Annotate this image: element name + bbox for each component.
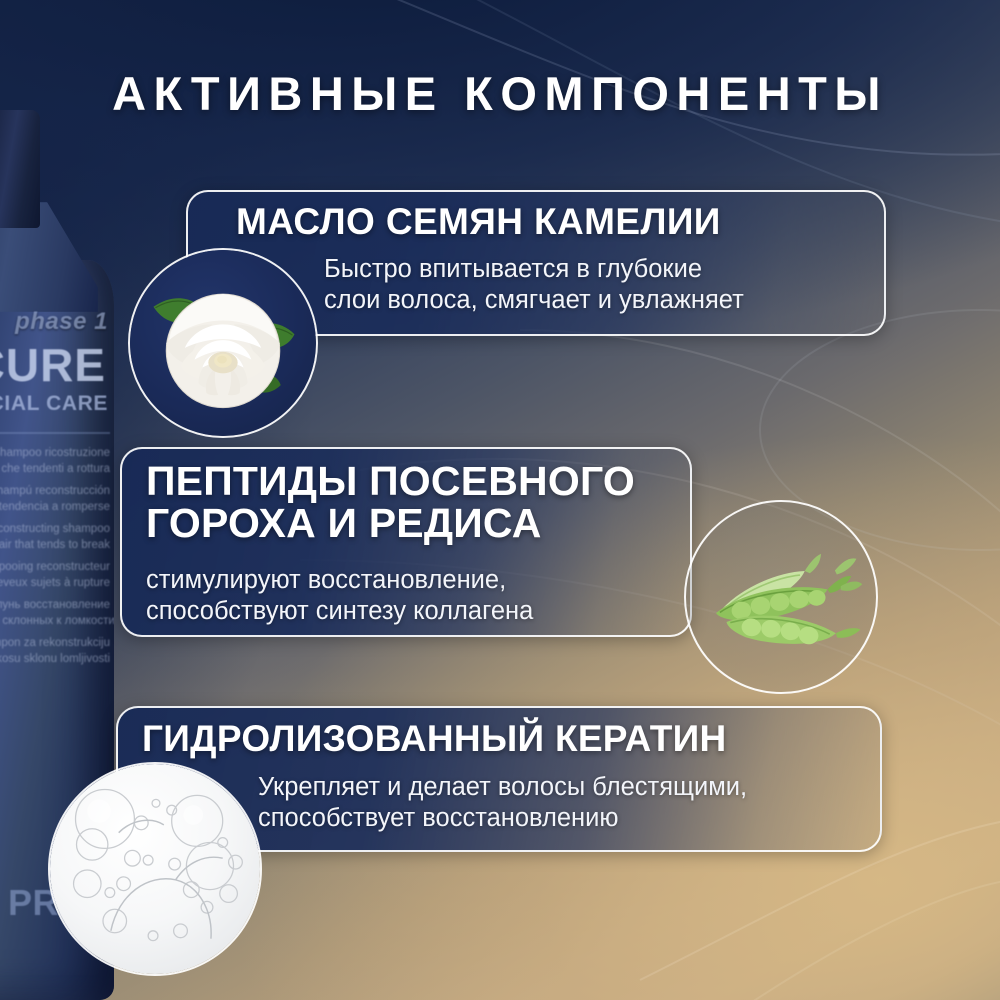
bottle-cap — [0, 110, 40, 228]
card-description-line: Быстро впитывается в глубокие — [324, 254, 744, 285]
card-description-line: слои волоса, смягчает и увлажняет — [324, 285, 744, 316]
pea-pods-icon — [684, 500, 878, 694]
fine-print-line: per capelli che tendenti a rottura — [0, 462, 110, 478]
infographic-canvas: phase 1 K-CURE SPECIAL CARE Shampoo rico… — [0, 0, 1000, 1000]
bottle-label-divider — [0, 432, 110, 434]
card-description-line: Укрепляет и делает волосы блестящими, — [258, 772, 747, 803]
page-title: АКТИВНЫЕ КОМПОНЕНТЫ — [0, 66, 1000, 121]
bottle-brand-text: K-CURE — [0, 338, 106, 392]
bottle-subtitle-text: SPECIAL CARE — [0, 392, 108, 416]
ingredient-card-peptides: ПЕПТИДЫ ПОСЕВНОГО ГОРОХА И РЕДИСА стимул… — [120, 447, 692, 637]
fine-print-line: for hair that tends to break — [0, 538, 110, 554]
fine-print-line: za kosu sklonu lomljivosti — [0, 652, 110, 668]
bottle-fine-print: Shampoo ricostruzione per capelli che te… — [0, 446, 110, 674]
fine-print-line: Champú reconstrucción — [0, 484, 110, 500]
fine-print-line: pour cheveux sujets à rupture — [0, 576, 110, 592]
fine-print-line: Шампунь восстановление — [0, 598, 110, 614]
card-title-line: ГОРОХА И РЕДИСА — [146, 503, 635, 545]
card-description: Быстро впитывается в глубокие слои волос… — [324, 254, 744, 316]
gel-bubbles-icon — [48, 762, 262, 976]
fine-print-line: Shampooing reconstructeur — [0, 560, 110, 576]
card-description-line: способствуют синтезу коллагена — [146, 596, 533, 627]
fine-print-line: для волос, склонных к ломкости — [0, 614, 110, 630]
fine-print-line: Reconstructing shampoo — [0, 522, 110, 538]
bottle-phase-text: phase 1 — [15, 308, 108, 336]
card-title: ПЕПТИДЫ ПОСЕВНОГО ГОРОХА И РЕДИСА — [146, 461, 635, 545]
card-title-line: ПЕПТИДЫ ПОСЕВНОГО — [146, 461, 635, 503]
card-description: Укрепляет и делает волосы блестящими, сп… — [258, 772, 747, 834]
card-description-line: стимулируют восстановление, — [146, 565, 533, 596]
fine-print-line: con tendencia a romperse — [0, 500, 110, 516]
card-description-line: способствует восстановлению — [258, 803, 747, 834]
fine-print-line: Shampoo ricostruzione — [0, 446, 110, 462]
card-description: стимулируют восстановление, способствуют… — [146, 565, 533, 627]
fine-print-line: Šampon za rekonstrukciju — [0, 636, 110, 652]
card-title: МАСЛО СЕМЯН КАМЕЛИИ — [236, 203, 721, 241]
camellia-flower-icon — [128, 248, 318, 438]
card-title: ГИДРОЛИЗОВАННЫЙ КЕРАТИН — [142, 720, 727, 758]
